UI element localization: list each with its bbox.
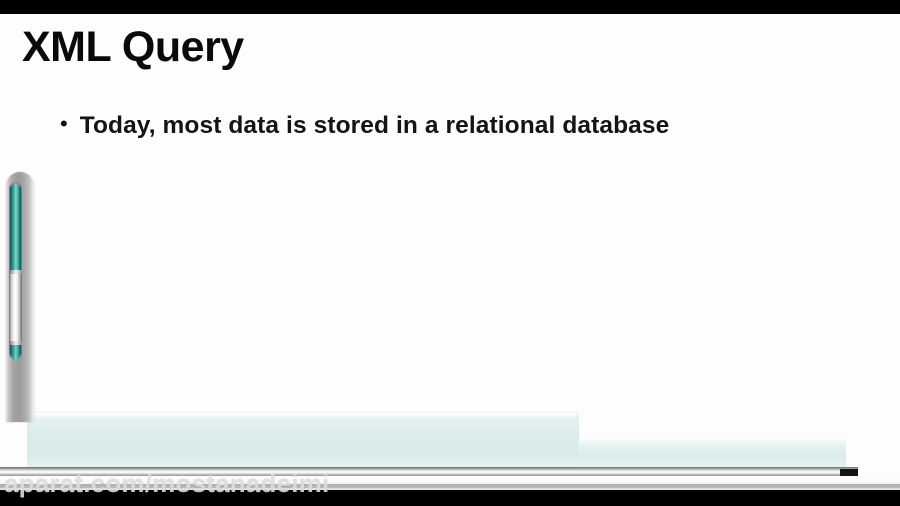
base-rail-end-cap-icon <box>840 469 858 476</box>
slide-title: XML Query <box>22 24 244 71</box>
rail-teal-upper-nib-icon <box>10 184 21 276</box>
rail-silver-shaft-graphic <box>10 272 21 344</box>
bullet-list: • Today, most data is stored in a relati… <box>60 112 669 140</box>
letterbox-top <box>0 0 900 14</box>
video-frame: XML Query • Today, most data is stored i… <box>0 0 900 506</box>
mint-shelf-main <box>27 411 579 468</box>
rail-shaft-cap-bottom-icon <box>9 341 22 345</box>
bullet-dot-icon: • <box>60 113 68 135</box>
mint-shelf-highlight <box>30 413 576 418</box>
rail-shaft-cap-top-icon <box>9 270 22 274</box>
list-item: • Today, most data is stored in a relati… <box>60 112 669 140</box>
mint-shelf-step <box>578 439 846 468</box>
watermark-text: aparat.com/mostanadeimi <box>4 468 329 499</box>
presentation-slide: XML Query • Today, most data is stored i… <box>0 14 900 490</box>
bullet-text: Today, most data is stored in a relation… <box>80 112 670 140</box>
